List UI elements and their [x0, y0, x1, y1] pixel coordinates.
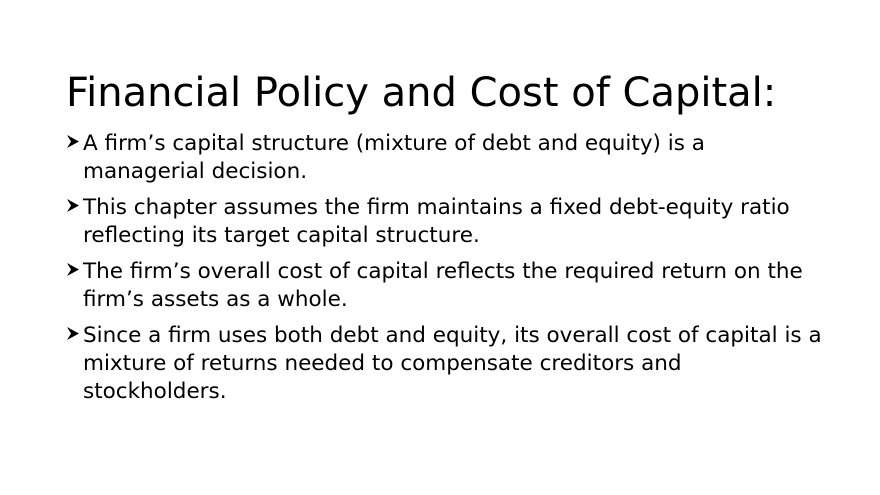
- list-item-text: Since a firm uses both debt and equity, …: [83, 322, 826, 406]
- arrowhead-bullet-icon: [66, 134, 83, 149]
- arrowhead-bullet-icon: [66, 326, 83, 341]
- arrowhead-bullet-icon: [66, 198, 83, 213]
- list-item-text: This chapter assumes the firm maintains …: [83, 194, 826, 250]
- list-item: Since a firm uses both debt and equity, …: [66, 322, 826, 406]
- list-item: A firm’s capital structure (mixture of d…: [66, 130, 826, 186]
- arrowhead-bullet-icon: [66, 262, 83, 277]
- slide-title: Financial Policy and Cost of Capital:: [66, 69, 826, 117]
- list-item: This chapter assumes the firm maintains …: [66, 194, 826, 250]
- presentation-slide: Financial Policy and Cost of Capital: A …: [0, 0, 880, 495]
- list-item: The firm’s overall cost of capital refle…: [66, 258, 826, 314]
- list-item-text: A firm’s capital structure (mixture of d…: [83, 130, 826, 186]
- bullet-list: A firm’s capital structure (mixture of d…: [66, 130, 826, 414]
- list-item-text: The firm’s overall cost of capital refle…: [83, 258, 826, 314]
